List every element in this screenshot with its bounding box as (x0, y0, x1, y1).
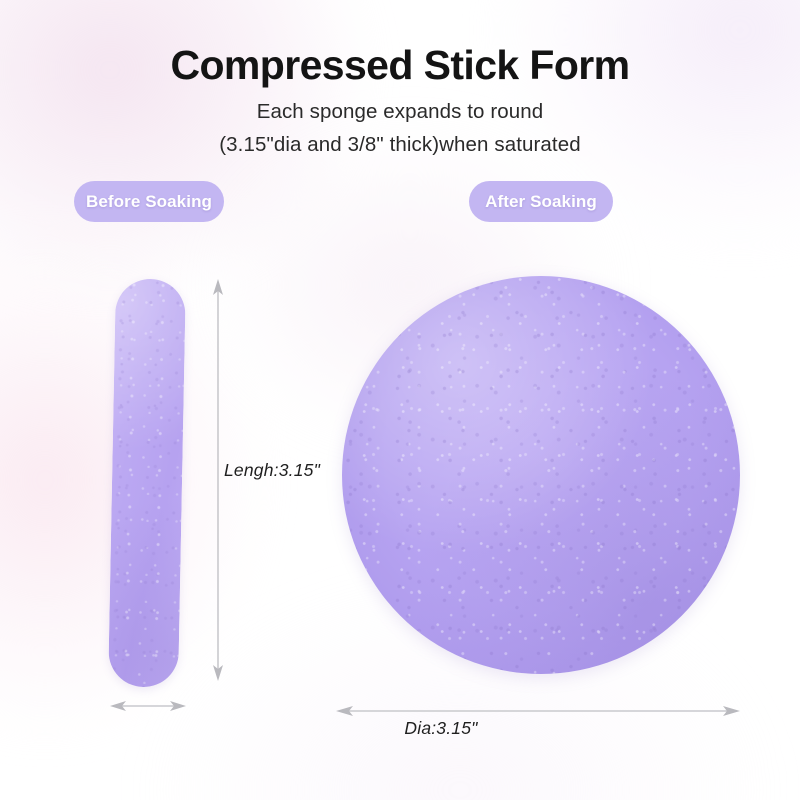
stick-foam-texture (108, 278, 186, 687)
badge-before-soaking: Before Soaking (74, 181, 224, 222)
circle-foam-texture (342, 276, 740, 674)
stick-width-dimension-arrow (108, 694, 188, 718)
circle-diameter-label: Dia:3.15" (41, 718, 800, 739)
subtitle-line-2: (3.15"dia and 3/8" thick)when saturated (0, 133, 800, 157)
compressed-stick-sponge (108, 278, 186, 687)
stick-length-label: Lengh:3.15" (224, 460, 320, 481)
page-title: Compressed Stick Form (0, 42, 800, 89)
badge-after-soaking: After Soaking (469, 181, 613, 222)
subtitle-line-1: Each sponge expands to round (0, 100, 800, 124)
expanded-round-sponge (342, 276, 740, 674)
product-infographic: Compressed Stick Form Each sponge expand… (0, 0, 800, 800)
